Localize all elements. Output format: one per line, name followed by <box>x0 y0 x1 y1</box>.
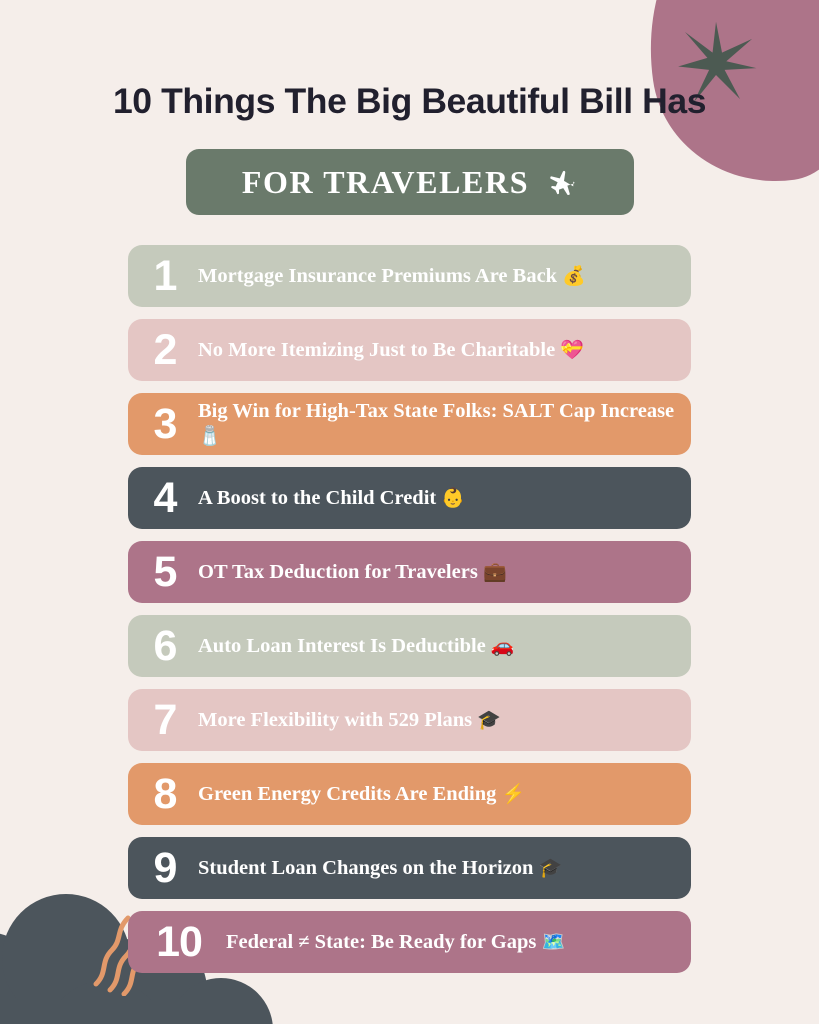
airplane-icon <box>547 167 577 197</box>
list-item-label: OT Tax Deduction for Travelers 💼 <box>198 560 507 585</box>
infographic-canvas: 10 Things The Big Beautiful Bill Has FOR… <box>0 0 819 1024</box>
baby-emoji: 👶 <box>441 488 465 509</box>
list-item-number: 4 <box>146 477 184 520</box>
list-item-label: Big Win for High-Tax State Folks: SALT C… <box>198 399 675 449</box>
list-item[interactable]: 1 Mortgage Insurance Premiums Are Back 💰 <box>128 245 691 307</box>
list-item[interactable]: 4 A Boost to the Child Credit 👶 <box>128 467 691 529</box>
list-item-number: 3 <box>146 403 184 446</box>
list-item-number: 6 <box>146 625 184 668</box>
list-item-number: 7 <box>146 699 184 742</box>
list-item[interactable]: 7 More Flexibility with 529 Plans 🎓 <box>128 689 691 751</box>
list-item-label: Green Energy Credits Are Ending ⚡ <box>198 782 525 807</box>
list-item-label: Auto Loan Interest Is Deductible 🚗 <box>198 634 515 659</box>
list-item-label: Mortgage Insurance Premiums Are Back 💰 <box>198 264 586 289</box>
map-emoji: 🗺️ <box>541 932 565 953</box>
list-item[interactable]: 2 No More Itemizing Just to Be Charitabl… <box>128 319 691 381</box>
graduation-cap-emoji: 🎓 <box>539 858 563 879</box>
list-item-label: No More Itemizing Just to Be Charitable … <box>198 338 584 363</box>
subtitle-text: FOR TRAVELERS <box>242 164 529 201</box>
heart-ribbon-emoji: 💝 <box>560 340 584 361</box>
list-item-number: 8 <box>146 773 184 816</box>
lightning-bolt-emoji: ⚡ <box>502 784 526 805</box>
list-item[interactable]: 10 Federal ≠ State: Be Ready for Gaps 🗺️ <box>128 911 691 973</box>
subtitle-banner: FOR TRAVELERS <box>186 149 634 215</box>
money-bag-emoji: 💰 <box>562 266 586 287</box>
list-item-number: 2 <box>146 329 184 372</box>
list-item-number: 5 <box>146 551 184 594</box>
car-emoji: 🚗 <box>491 636 515 657</box>
list-item-label: A Boost to the Child Credit 👶 <box>198 486 465 511</box>
list-item-label: Federal ≠ State: Be Ready for Gaps 🗺️ <box>226 930 565 955</box>
list-item[interactable]: 6 Auto Loan Interest Is Deductible 🚗 <box>128 615 691 677</box>
header: 10 Things The Big Beautiful Bill Has FOR… <box>0 0 819 215</box>
page-title: 10 Things The Big Beautiful Bill Has <box>0 82 819 121</box>
list-item[interactable]: 9 Student Loan Changes on the Horizon 🎓 <box>128 837 691 899</box>
list-item-number: 1 <box>146 255 184 298</box>
list-item-number: 9 <box>146 847 184 890</box>
benefits-list: 1 Mortgage Insurance Premiums Are Back 💰… <box>128 245 691 973</box>
list-item-label: Student Loan Changes on the Horizon 🎓 <box>198 856 562 881</box>
briefcase-emoji: 💼 <box>483 562 507 583</box>
list-item[interactable]: 3 Big Win for High-Tax State Folks: SALT… <box>128 393 691 455</box>
salt-shaker-emoji: 🧂 <box>198 426 222 447</box>
list-item[interactable]: 5 OT Tax Deduction for Travelers 💼 <box>128 541 691 603</box>
graduation-cap-emoji: 🎓 <box>477 710 501 731</box>
list-item[interactable]: 8 Green Energy Credits Are Ending ⚡ <box>128 763 691 825</box>
list-item-number: 10 <box>146 921 212 964</box>
list-item-label: More Flexibility with 529 Plans 🎓 <box>198 708 501 733</box>
